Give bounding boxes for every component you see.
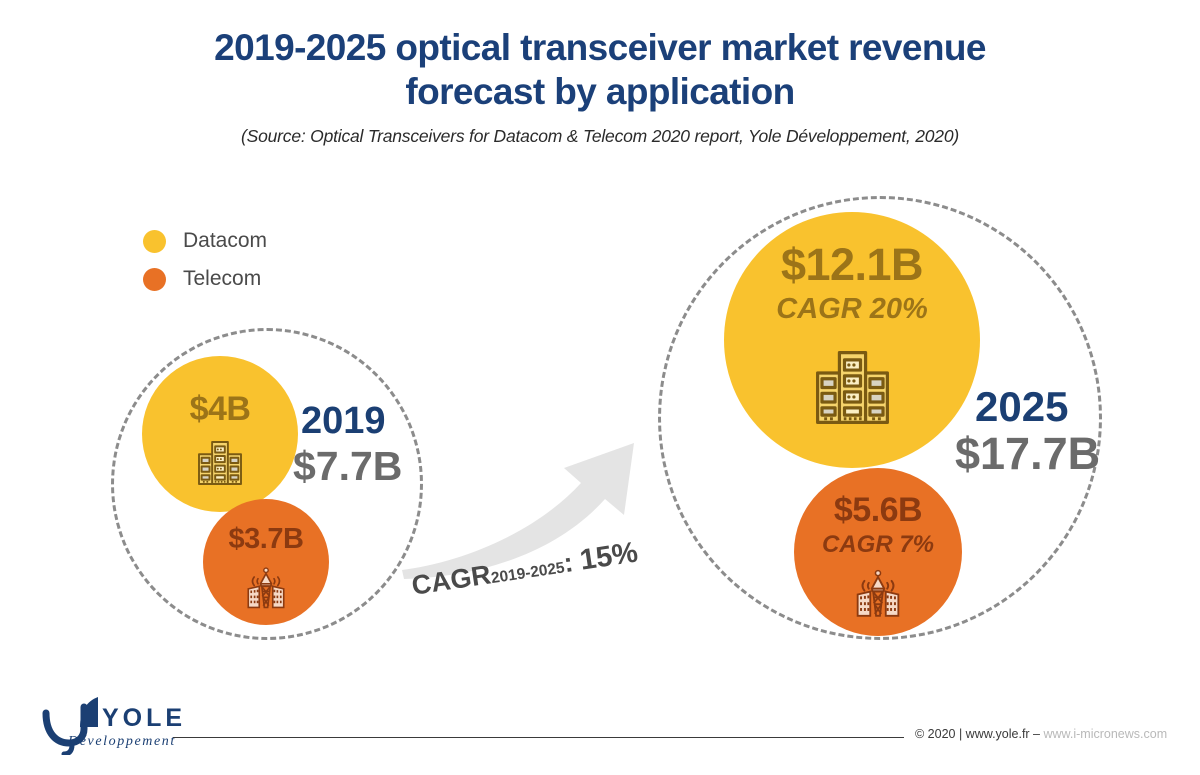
page-title-line-1: 2019-2025 optical transceiver market rev… <box>0 26 1200 70</box>
bubble-datacom-2025[interactable]: $12.1B CAGR 20% <box>724 212 980 468</box>
year-label-2019: 2019 <box>301 400 386 443</box>
legend-item-datacom[interactable]: Datacom <box>143 222 267 260</box>
footer-credit-visible: © 2020 | www.yole.fr – <box>915 727 1040 741</box>
telecom-tower-icon <box>847 565 909 627</box>
bubble-telecom-2025[interactable]: $5.6B CAGR 7% <box>794 468 962 636</box>
bubble-amount-telecom-2025: $5.6B <box>834 491 922 530</box>
bubble-amount-telecom-2019: $3.7B <box>229 523 304 556</box>
yole-logo[interactable]: YOLE Développement <box>42 693 232 755</box>
page-title-line-2: forecast by application <box>0 70 1200 114</box>
footer-divider <box>173 737 901 738</box>
legend-item-telecom[interactable]: Telecom <box>143 260 267 298</box>
telecom-tower-icon <box>239 563 293 618</box>
total-label-2019: $7.7B <box>293 443 402 490</box>
legend-dot-telecom <box>143 268 166 291</box>
bubble-cagr-telecom-2025: CAGR 7% <box>822 531 934 559</box>
bubble-telecom-2019[interactable]: $3.7B <box>203 499 329 625</box>
bubble-amount-datacom-2019: $4B <box>190 390 251 429</box>
datacenter-icon <box>806 341 899 439</box>
yole-logo-tagline: Développement <box>67 734 176 749</box>
source-subtitle: (Source: Optical Transceivers for Dataco… <box>0 126 1200 147</box>
bubble-datacom-2019[interactable]: $4B <box>142 356 298 512</box>
footer-divider-right <box>878 737 904 738</box>
legend: Datacom Telecom <box>143 222 267 298</box>
total-label-2025: $17.7B <box>955 428 1100 480</box>
datacenter-icon <box>192 435 248 496</box>
yole-logo-name: YOLE <box>102 704 186 732</box>
year-label-2025: 2025 <box>975 383 1068 431</box>
infographic-canvas: 2019-2025 optical transceiver market rev… <box>0 0 1200 775</box>
bubble-cagr-datacom-2025: CAGR 20% <box>776 293 928 326</box>
title-block: 2019-2025 optical transceiver market rev… <box>0 26 1200 147</box>
legend-label-datacom: Datacom <box>183 229 267 253</box>
footer-credit-faded: www.i-micronews.com <box>1044 727 1168 741</box>
legend-dot-datacom <box>143 230 166 253</box>
bubble-amount-datacom-2025: $12.1B <box>781 239 923 291</box>
legend-label-telecom: Telecom <box>183 267 261 291</box>
footer-credit: © 2020 | www.yole.fr – www.i-micronews.c… <box>915 727 1167 741</box>
